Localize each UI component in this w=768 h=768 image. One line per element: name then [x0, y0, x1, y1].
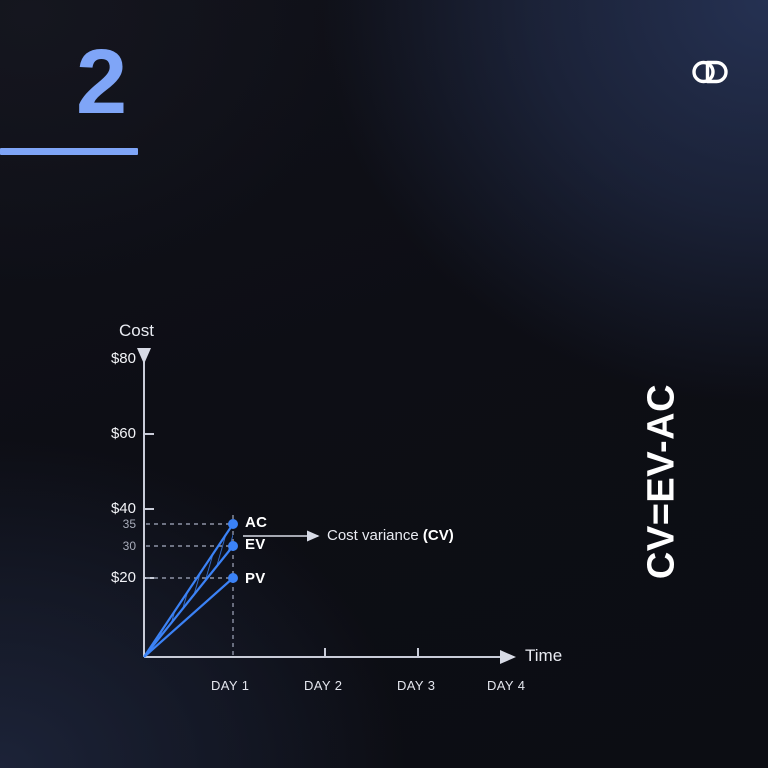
series-label-ev: EV — [245, 536, 266, 553]
chart-labels-layer: Cost Time $80 $60 $40 $20 35 30 DAY 1 DA… — [0, 0, 768, 768]
cv-annotation-text: Cost variance — [327, 527, 423, 544]
x-tick-label-day3: DAY 3 — [397, 678, 435, 693]
y-tick-label-80: $80 — [56, 350, 136, 367]
cv-annotation-abbr: (CV) — [423, 527, 454, 544]
cv-annotation-label: Cost variance (CV) — [327, 527, 454, 544]
y-tick-label-35: 35 — [76, 517, 136, 531]
x-tick-label-day1: DAY 1 — [211, 678, 249, 693]
x-tick-label-day4: DAY 4 — [487, 678, 525, 693]
y-tick-label-20: $20 — [56, 569, 136, 586]
y-tick-label-30: 30 — [76, 539, 136, 553]
slide-canvas: 2 CV=EV-AC — [0, 0, 768, 768]
series-label-pv: PV — [245, 570, 266, 587]
y-axis-title: Cost — [119, 321, 154, 341]
x-tick-label-day2: DAY 2 — [304, 678, 342, 693]
series-label-ac: AC — [245, 514, 267, 531]
y-tick-label-40: $40 — [56, 500, 136, 517]
x-axis-title: Time — [525, 646, 562, 666]
y-tick-label-60: $60 — [56, 425, 136, 442]
